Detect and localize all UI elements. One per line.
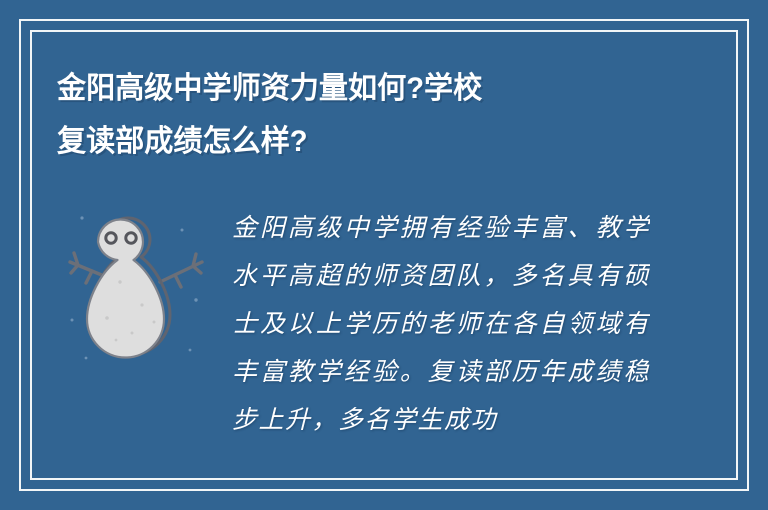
body-paragraph: 金阳高级中学拥有经验丰富、教学水平高超的师资团队，多名具有硕士及以上学历的老师在… [232,204,650,464]
snowman-illustration [62,200,212,375]
page-title: 金阳高级中学师资力量如何?学校 复读部成绩怎么样? [57,62,657,168]
snowman-right-arm-icon [160,254,202,287]
page-title-line-2: 复读部成绩怎么样? [57,115,639,168]
page-title-line-1: 金阳高级中学师资力量如何?学校 [57,62,639,115]
poster-canvas: 金阳高级中学师资力量如何?学校 复读部成绩怎么样? [0,0,768,510]
